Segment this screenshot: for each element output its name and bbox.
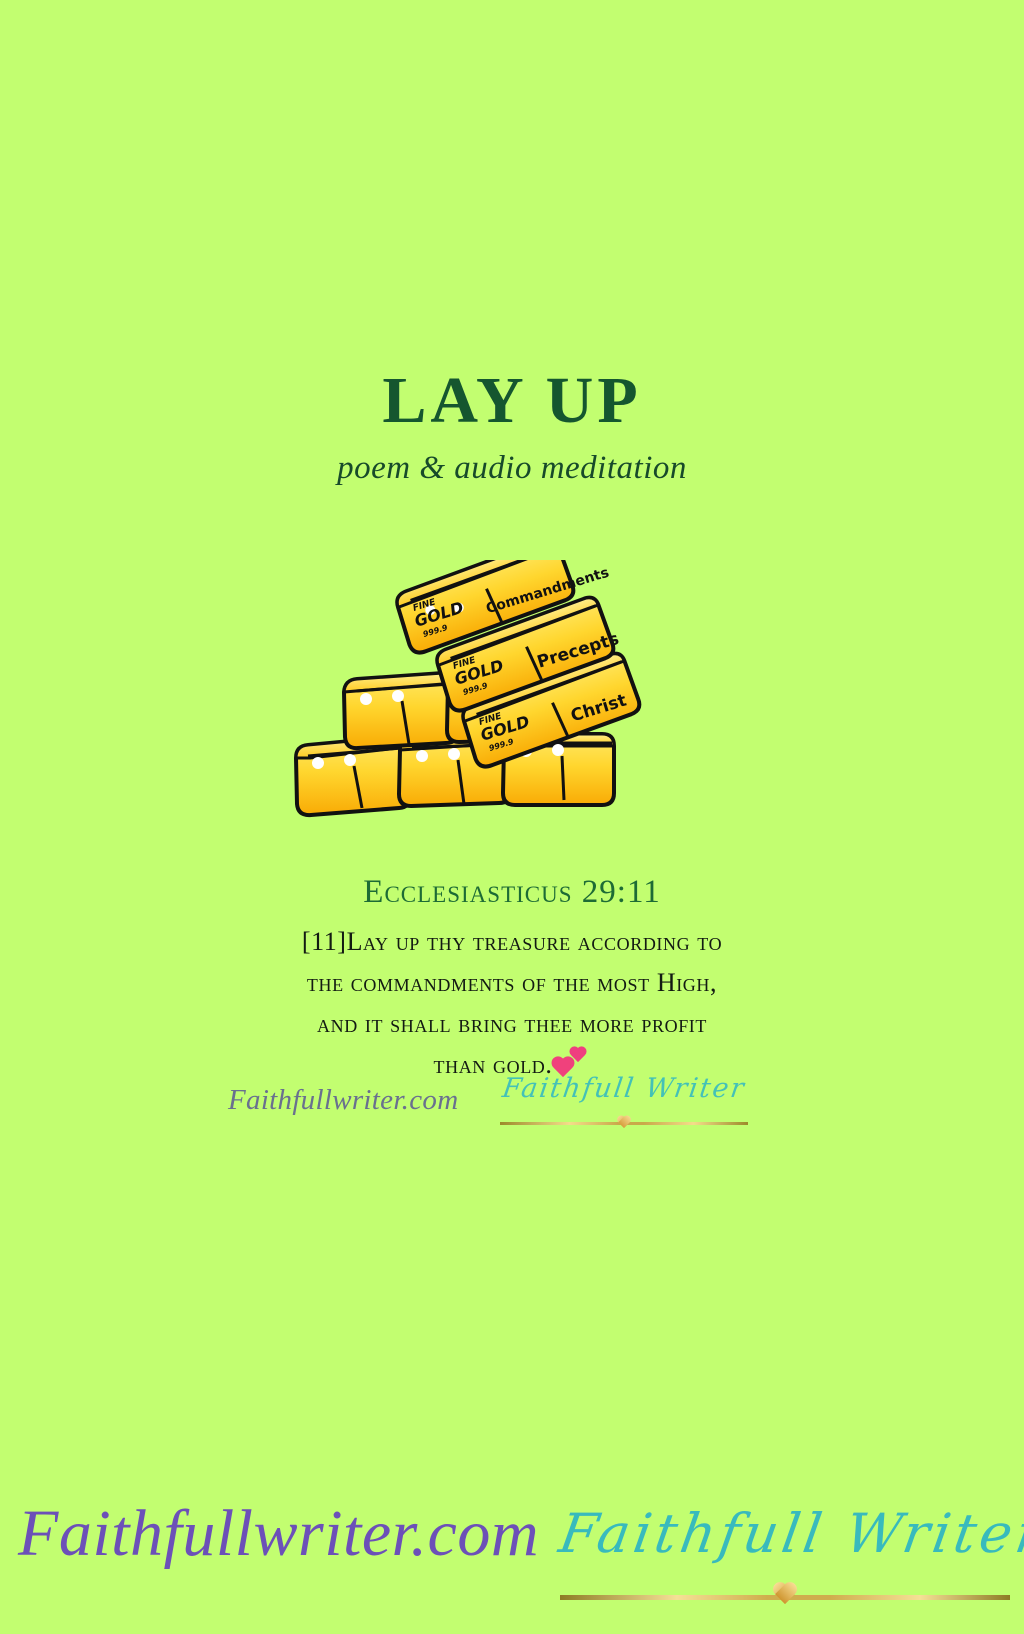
title-block: LAY UP poem & audio meditation — [0, 368, 1024, 487]
page-title: LAY UP — [0, 368, 1024, 434]
page-subtitle: poem & audio meditation — [0, 450, 1024, 487]
brand-script-text: Faithfull Writer — [555, 1502, 1015, 1565]
brand-script-text: Faithfull Writer — [498, 1073, 750, 1104]
brand-watermark-small: Faithfull Writer — [500, 1073, 748, 1129]
verse-line: the commandments of the most High, — [0, 962, 1024, 1003]
verse-line: and it shall bring thee more profit — [0, 1003, 1024, 1044]
site-credit-bottom[interactable]: Faithfullwriter.com — [18, 1496, 539, 1572]
site-credit-inline[interactable]: Faithfullwriter.com — [228, 1084, 458, 1117]
scripture-reference: Ecclesiasticus 29:11 — [0, 874, 1024, 911]
gold-bars-illustration: FINE GOLD 999.9 Christ FINE GO — [292, 560, 658, 822]
brand-watermark-large: Faithfull Writer — [560, 1496, 1010, 1620]
gold-heart-icon — [616, 1116, 632, 1130]
gold-heart-icon — [771, 1583, 799, 1608]
verse-line: [11]Lay up thy treasure according to — [0, 921, 1024, 962]
scripture-block: Ecclesiasticus 29:11 [11]Lay up thy trea… — [0, 874, 1024, 1085]
poster-canvas: LAY UP poem & audio meditation — [0, 0, 1024, 1634]
